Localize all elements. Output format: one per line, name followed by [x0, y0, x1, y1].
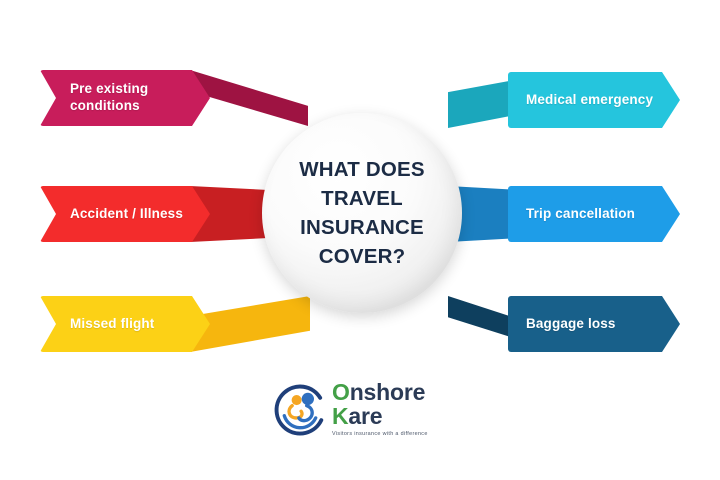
arrow-label-baggage-loss: Baggage loss — [526, 316, 616, 333]
arrow-body-trip-cancellation[interactable]: Trip cancellation — [508, 186, 680, 242]
logo-cap-k: K — [332, 403, 348, 429]
arrow-label-accident-illness: Accident / Illness — [70, 206, 183, 223]
logo-rest-nshore: nshore — [350, 379, 425, 405]
arrow-body-baggage-loss[interactable]: Baggage loss — [508, 296, 680, 352]
arrow-label-trip-cancellation: Trip cancellation — [526, 206, 635, 223]
item-medical-emergency[interactable]: Medical emergency — [452, 72, 692, 128]
arrow-body-pre-existing-conditions[interactable]: Pre existing conditions — [40, 70, 210, 126]
logo-line-onshore: Onshore — [332, 381, 428, 404]
arrow-body-missed-flight[interactable]: Missed flight — [40, 296, 210, 352]
onshore-kare-logo-icon — [272, 381, 328, 437]
center-title: WHAT DOES TRAVEL INSURANCE COVER? — [285, 155, 439, 271]
arrow-label-missed-flight: Missed flight — [70, 316, 154, 333]
item-accident-illness[interactable]: Accident / Illness — [40, 186, 290, 242]
item-missed-flight[interactable]: Missed flight — [40, 296, 300, 352]
arrow-body-accident-illness[interactable]: Accident / Illness — [40, 186, 210, 242]
item-baggage-loss[interactable]: Baggage loss — [452, 296, 692, 352]
arrow-label-pre-existing-conditions: Pre existing conditions — [70, 81, 148, 115]
brand-logo[interactable]: Onshore Kare Visitors insurance with a d… — [272, 372, 472, 446]
item-pre-existing-conditions[interactable]: Pre existing conditions — [40, 70, 300, 126]
center-circle: WHAT DOES TRAVEL INSURANCE COVER? — [262, 113, 462, 313]
infographic-canvas: Pre existing conditions Accident / Illne… — [0, 0, 720, 480]
arrow-body-medical-emergency[interactable]: Medical emergency — [508, 72, 680, 128]
item-trip-cancellation[interactable]: Trip cancellation — [452, 186, 692, 242]
logo-line-kare: Kare — [332, 405, 428, 428]
logo-rest-are: are — [348, 403, 382, 429]
logo-cap-o: O — [332, 379, 350, 405]
arrow-label-medical-emergency: Medical emergency — [526, 92, 653, 109]
logo-tagline: Visitors insurance with a difference — [332, 431, 428, 437]
logo-wordmark: Onshore Kare Visitors insurance with a d… — [332, 381, 428, 437]
